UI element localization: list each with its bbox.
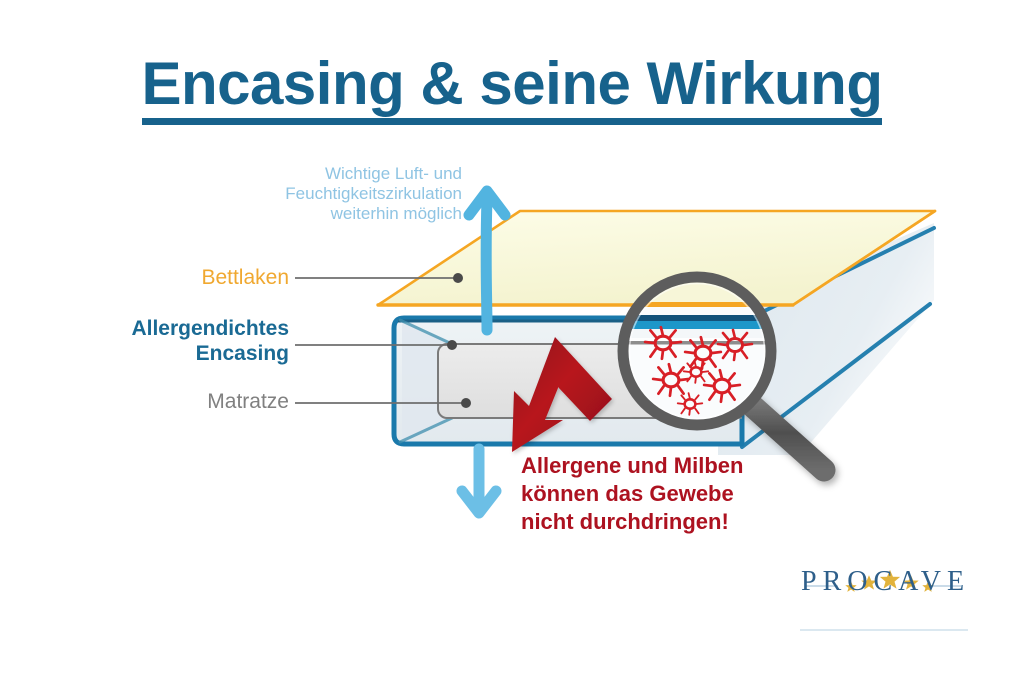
procave-logo: PROCAVE [795, 568, 970, 630]
logo-wordmark: PROCAVE [795, 566, 970, 598]
label-matratze: Matratze [207, 390, 289, 415]
annotation-air-circulation: Wichtige Luft- und Feuchtigkeitszirkulat… [285, 164, 462, 224]
airflow-arrow-down [462, 449, 496, 513]
label-bettlaken: Bettlaken [201, 266, 289, 291]
leader-dot-encasing [447, 340, 457, 350]
annotation-allergen-warning: Allergene und Milben können das Gewebe n… [521, 452, 743, 536]
leader-dot-matratze [461, 398, 471, 408]
leader-dot-bettlaken [453, 273, 463, 283]
label-allergendichtes-encasing: Allergendichtes Encasing [131, 317, 289, 367]
poster-canvas: Encasing & seine Wirkung [0, 0, 1024, 683]
